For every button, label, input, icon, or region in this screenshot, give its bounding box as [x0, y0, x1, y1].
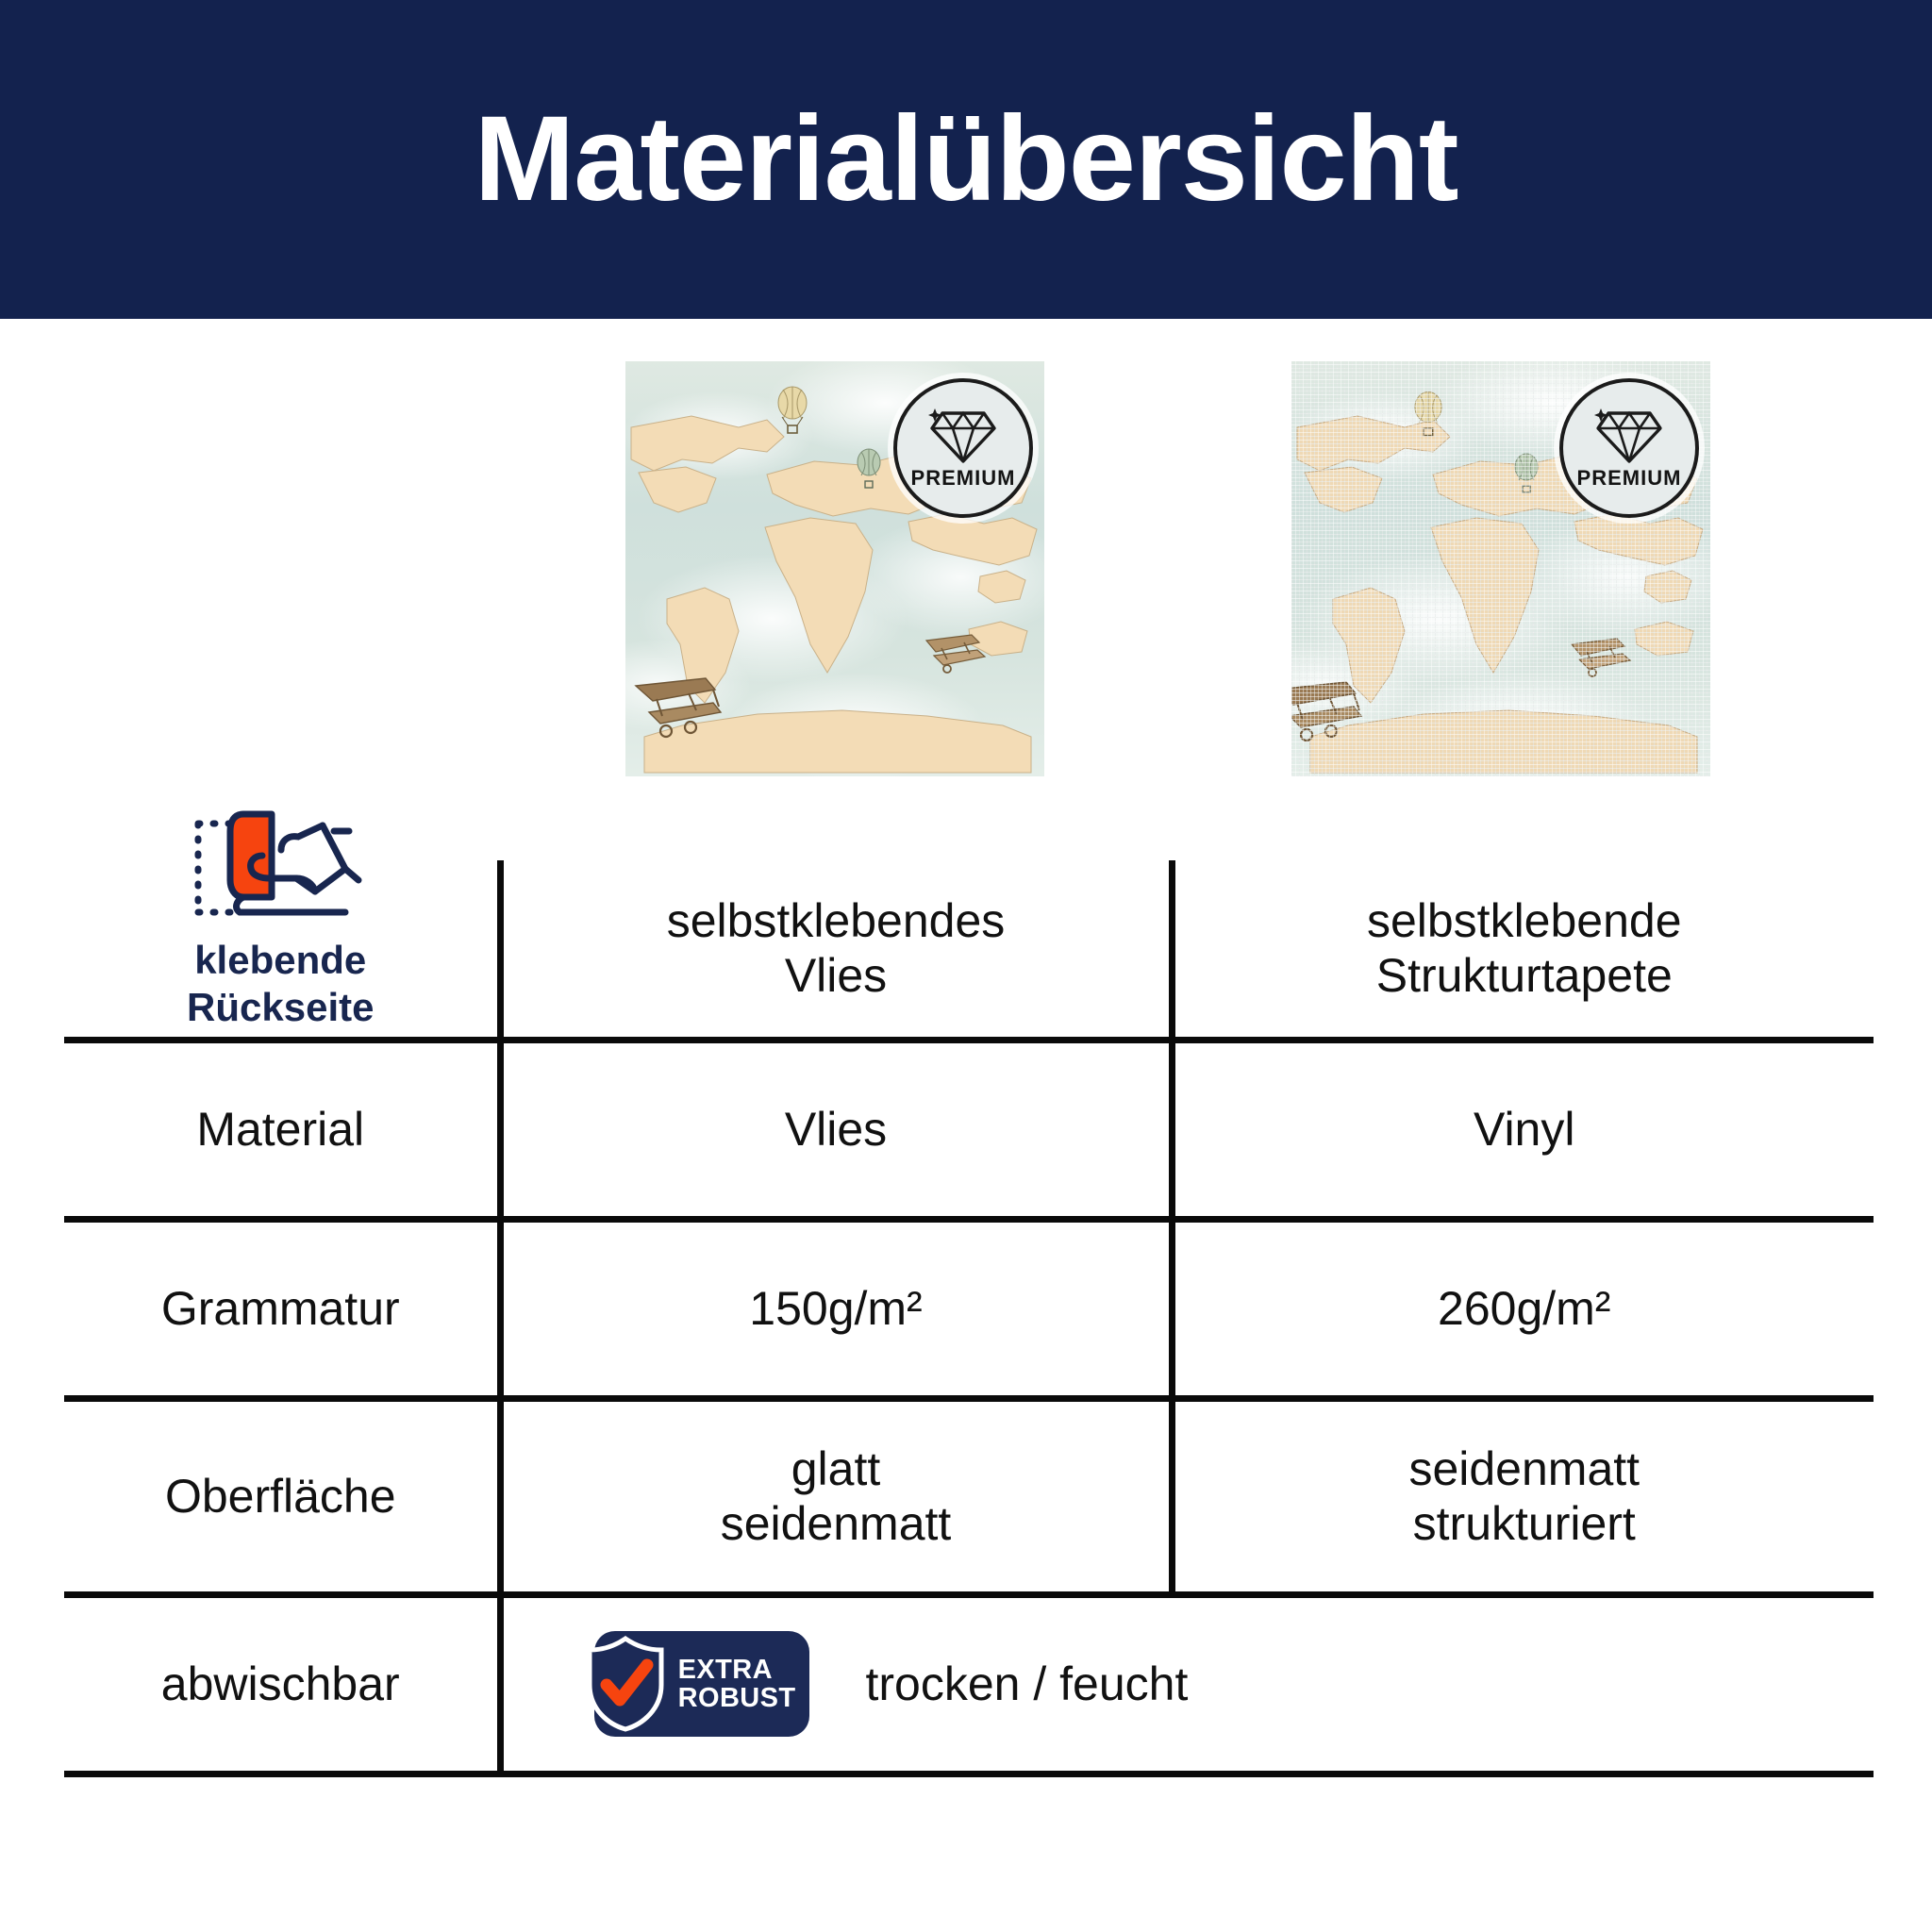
product-name-strukturtapete: selbstklebende Strukturtapete: [1172, 860, 1874, 1040]
robust-badge-line2: ROBUST: [678, 1684, 796, 1712]
biplane-icon: [1291, 676, 1373, 744]
diamond-icon: [1594, 408, 1664, 466]
oberflaeche-vlies-line2: seidenmatt: [504, 1496, 1169, 1551]
premium-label: PREMIUM: [1577, 468, 1682, 489]
page-header-banner: Materialübersicht: [0, 0, 1932, 319]
product-name-strukturtapete-line1: selbstklebende: [1175, 893, 1874, 948]
oberflaeche-struktur-line2: strukturiert: [1175, 1496, 1874, 1551]
product-name-strukturtapete-line2: Strukturtapete: [1175, 948, 1874, 1003]
premium-badge: PREMIUM: [1559, 378, 1699, 518]
grammatur-value-vlies: 150g/m²: [500, 1219, 1172, 1398]
page-title: Materialübersicht: [475, 99, 1458, 220]
preview-image-strukturtapete[interactable]: PREMIUM: [1291, 361, 1710, 776]
diamond-icon: [928, 408, 998, 466]
adhesive-label-line2: Rückseite: [139, 984, 422, 1031]
material-value-strukturtapete: Vinyl: [1172, 1040, 1874, 1219]
row-label-oberflaeche: Oberfläche: [64, 1398, 500, 1594]
product-preview-row: PREMIUM: [0, 361, 1932, 776]
biplane-icon: [634, 673, 732, 741]
row-label-grammatur: Grammatur: [64, 1219, 500, 1398]
oberflaeche-struktur-line1: seidenmatt: [1175, 1441, 1874, 1496]
table-row-products: klebende Rückseite selbstklebendes Vlies…: [64, 860, 1874, 1040]
row-label-abwischbar: abwischbar: [64, 1594, 500, 1774]
grammatur-value-strukturtapete: 260g/m²: [1172, 1219, 1874, 1398]
product-name-vlies-line1: selbstklebendes: [504, 893, 1169, 948]
table-row-abwischbar: abwischbar EXTRA ROBUST trocken / feucht: [64, 1594, 1874, 1774]
hot-air-balloon-icon: [856, 448, 882, 490]
table-row-grammatur: Grammatur 150g/m² 260g/m²: [64, 1219, 1874, 1398]
oberflaeche-value-strukturtapete: seidenmatt strukturiert: [1172, 1398, 1874, 1594]
oberflaeche-vlies-line1: glatt: [504, 1441, 1169, 1496]
material-comparison-table: klebende Rückseite selbstklebendes Vlies…: [64, 860, 1874, 1777]
adhesive-label-line1: klebende: [139, 937, 422, 984]
adhesive-backing-cell: klebende Rückseite: [64, 860, 500, 1040]
abwischbar-value-cell: EXTRA ROBUST trocken / feucht: [500, 1594, 1874, 1774]
robust-badge-line1: EXTRA: [678, 1656, 796, 1684]
peel-adhesive-backing-icon: [191, 807, 370, 929]
biplane-icon: [923, 631, 992, 675]
biplane-icon: [1568, 635, 1638, 678]
extra-robust-badge: EXTRA ROBUST: [594, 1631, 809, 1737]
product-name-vlies-line2: Vlies: [504, 948, 1169, 1003]
premium-label: PREMIUM: [911, 468, 1016, 489]
material-value-vlies: Vlies: [500, 1040, 1172, 1219]
premium-badge: PREMIUM: [893, 378, 1033, 518]
table-row-oberflaeche: Oberfläche glatt seidenmatt seidenmatt s…: [64, 1398, 1874, 1594]
abwischbar-value-text: trocken / feucht: [866, 1657, 1189, 1711]
hot-air-balloon-icon: [1513, 453, 1540, 494]
shield-check-icon: [585, 1636, 666, 1732]
oberflaeche-value-vlies: glatt seidenmatt: [500, 1398, 1172, 1594]
hot-air-balloon-icon: [1413, 391, 1443, 438]
product-name-vlies: selbstklebendes Vlies: [500, 860, 1172, 1040]
preview-image-vlies[interactable]: PREMIUM: [625, 361, 1044, 776]
row-label-material: Material: [64, 1040, 500, 1219]
table-row-material: Material Vlies Vinyl: [64, 1040, 1874, 1219]
hot-air-balloon-icon: [776, 386, 808, 435]
